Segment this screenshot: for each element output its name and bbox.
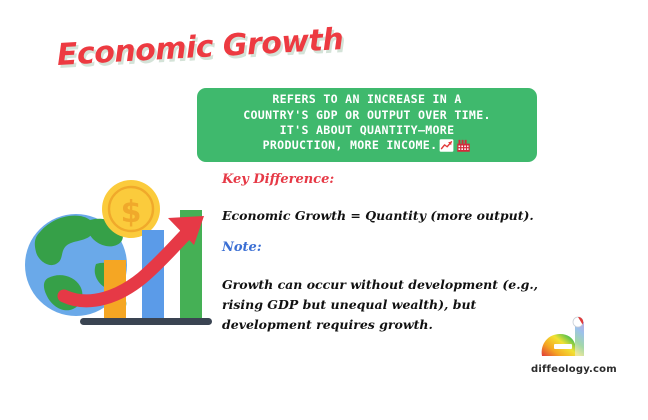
infographic-canvas: Economic Growth REFERS TO AN INCREASE IN… — [0, 0, 648, 420]
chart-increasing-icon — [439, 138, 454, 157]
dollar-coin-icon: $ — [102, 180, 160, 238]
key-difference-label: Key Difference: — [222, 172, 334, 187]
key-difference-body: Economic Growth = Quantity (more output)… — [222, 208, 534, 223]
factory-icon — [456, 138, 471, 157]
economic-growth-illustration: $ — [18, 160, 228, 330]
svg-text:$: $ — [121, 195, 142, 230]
chart-baseline — [80, 318, 212, 325]
definition-text: REFERS TO AN INCREASE IN A COUNTRY'S GDP… — [237, 92, 497, 157]
watermark-text: diffeology.com — [531, 364, 617, 375]
note-body: Growth can occur without development (e.… — [222, 275, 567, 334]
definition-box: REFERS TO AN INCREASE IN A COUNTRY'S GDP… — [197, 88, 537, 162]
page-title: Economic Growth — [56, 22, 344, 73]
diffeology-logo — [534, 316, 596, 362]
